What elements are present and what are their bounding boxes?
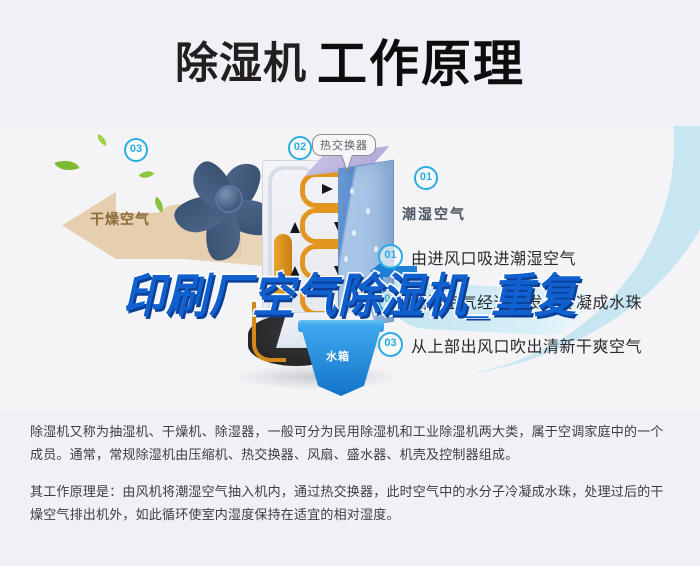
legend-label: 从上部出风口吹出清新干爽空气 — [411, 333, 642, 357]
description-paragraph-2: 其工作原理是：由风机将潮湿空气抽入机内，通过热交换器，此时空气中的水分子冷凝成水… — [30, 480, 674, 526]
water-tank-label: 水箱 — [326, 348, 350, 364]
arrow-up-icon — [290, 222, 300, 233]
dry-air-label: 干燥空气 — [90, 209, 150, 229]
water-drop-icon — [366, 208, 370, 214]
fan-hub — [215, 185, 243, 213]
description-paragraph-1: 除湿机又称为抽湿机、干燥机、除湿器，一般可分为民用除湿机和工业除湿机两大类，属于… — [30, 420, 674, 466]
legend-badge: 03 — [378, 332, 403, 357]
description-text: 除湿机又称为抽湿机、干燥机、除湿器，一般可分为民用除湿机和工业除湿机两大类，属于… — [30, 420, 674, 526]
heat-exchanger-callout-label: 热交换器 — [312, 134, 376, 156]
arrow-right-icon — [322, 184, 333, 194]
page-title: 除湿机工作原理 — [0, 24, 700, 96]
water-drop-icon — [352, 230, 356, 236]
page-title-part2: 工作原理 — [317, 36, 525, 92]
callout-badge-moist-air: 01 — [414, 166, 438, 190]
callout-badge-dry-air: 03 — [124, 138, 148, 162]
page-title-part1: 除湿机 — [175, 40, 307, 88]
callout-badge-heat-exchanger: 02 — [288, 136, 312, 160]
water-drop-icon — [350, 188, 354, 194]
watermark-overlay: 印刷厂空气除湿机_重复 — [0, 258, 700, 326]
moist-air-label: 潮湿空气 — [402, 204, 466, 224]
legend-item: 03 从上部出风口吹出清新干爽空气 — [378, 332, 642, 357]
